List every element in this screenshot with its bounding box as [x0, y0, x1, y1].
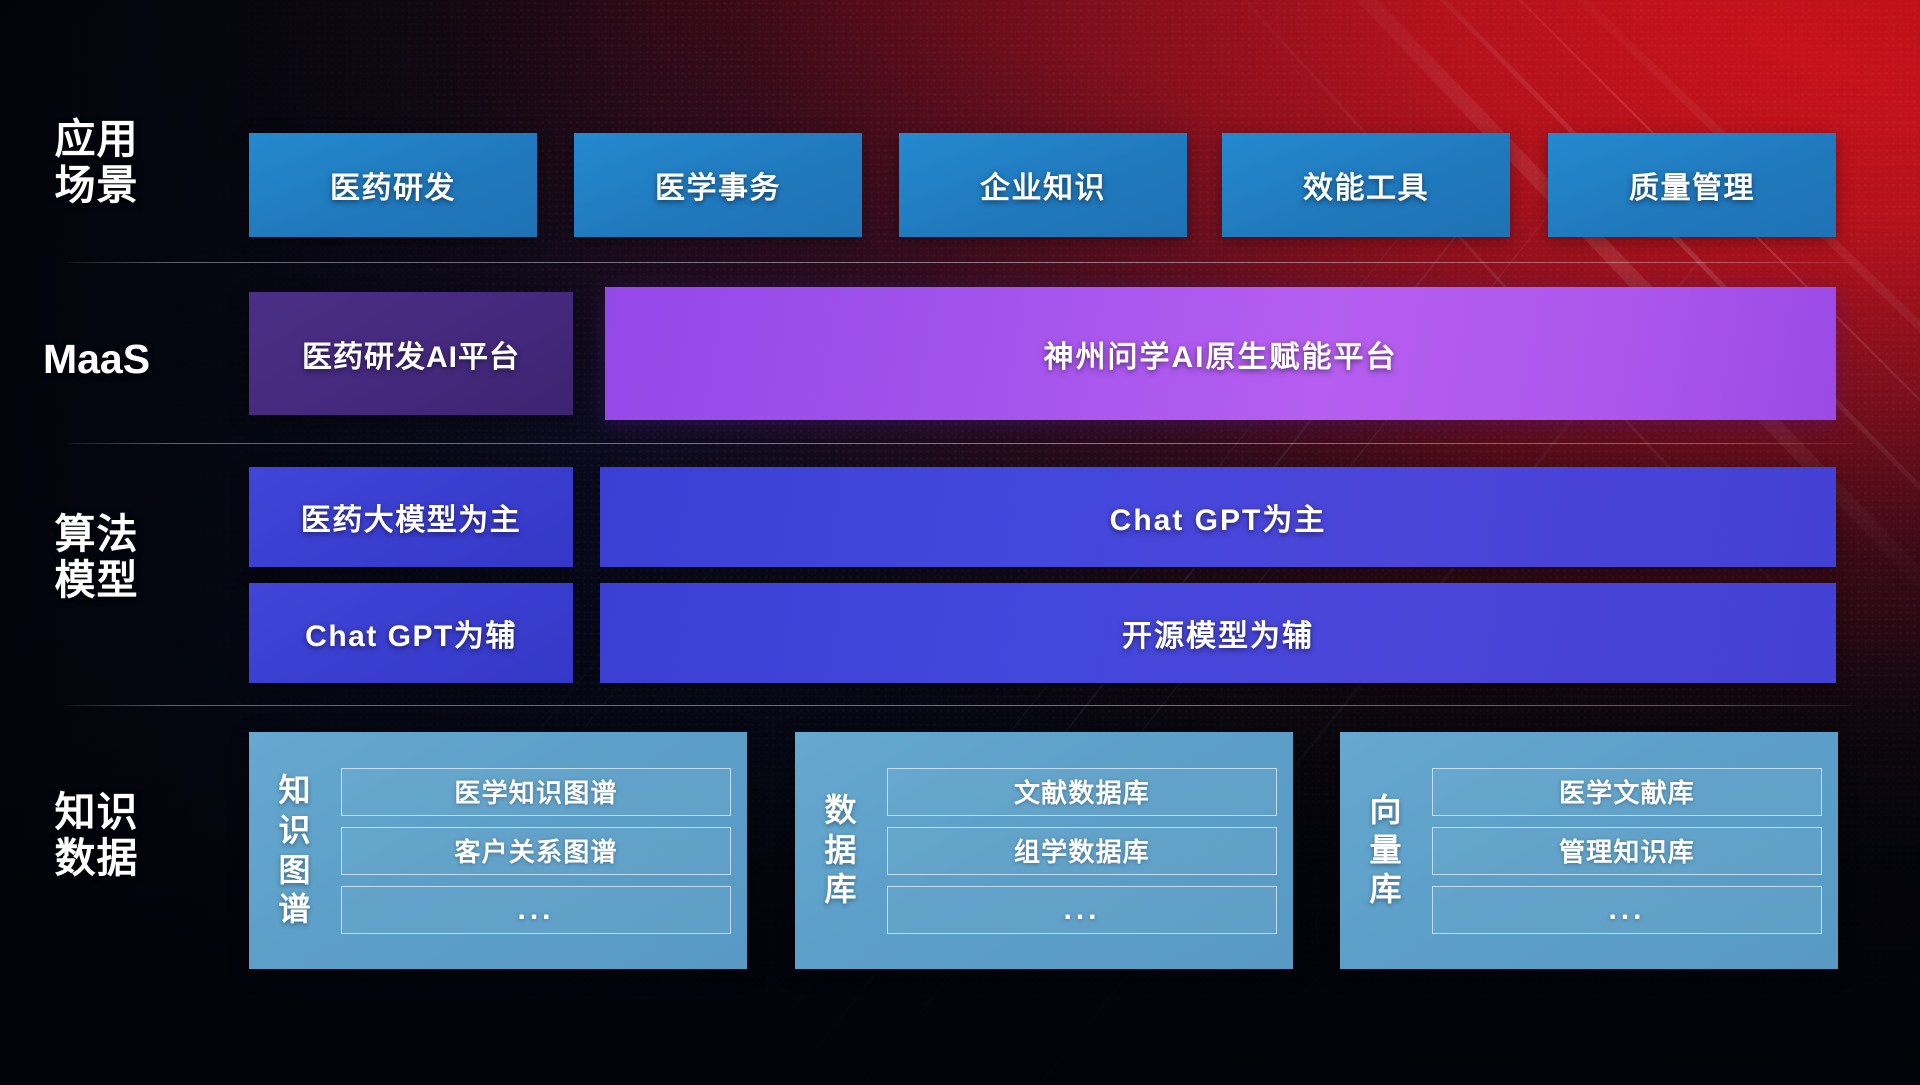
row-label-line: 场景: [0, 163, 193, 209]
knowledge-item-customer-relationship-graph[interactable]: 客户关系图谱: [341, 827, 731, 875]
knowledge-item-more[interactable]: ...: [887, 886, 1277, 934]
row-label-line: 应用: [0, 117, 193, 163]
divider-2: [68, 443, 1852, 444]
knowledge-panel-label-database: 数据库: [795, 791, 887, 910]
divider-1: [68, 262, 1852, 263]
knowledge-panel-knowledge-graph[interactable]: 知识图谱 医学知识图谱 客户关系图谱 ...: [249, 732, 747, 969]
architecture-diagram: 应用 场景 医药研发 医学事务 企业知识 效能工具 质量管理 MaaS 医药研发…: [0, 0, 1920, 1080]
knowledge-panel-label-vector-store: 向量库: [1340, 791, 1432, 910]
app-box-medical-affairs[interactable]: 医学事务: [574, 133, 862, 237]
knowledge-panel-database[interactable]: 数据库 文献数据库 组学数据库 ...: [795, 732, 1293, 969]
row-label-maas: MaaS: [0, 337, 193, 383]
knowledge-item-list: 医学文献库 管理知识库 ...: [1432, 768, 1822, 934]
knowledge-panel-vector-store[interactable]: 向量库 医学文献库 管理知识库 ...: [1340, 732, 1838, 969]
algo-box-pharma-llm-primary[interactable]: 医药大模型为主: [249, 467, 573, 567]
divider-3: [68, 705, 1852, 706]
algo-box-chatgpt-primary[interactable]: Chat GPT为主: [600, 467, 1836, 567]
app-box-pharma-rd[interactable]: 医药研发: [249, 133, 537, 237]
knowledge-item-more[interactable]: ...: [341, 886, 731, 934]
app-box-efficiency-tools[interactable]: 效能工具: [1222, 133, 1510, 237]
algo-box-open-source-secondary[interactable]: 开源模型为辅: [600, 583, 1836, 683]
maas-box-pharma-ai-platform[interactable]: 医药研发AI平台: [249, 292, 573, 415]
app-box-quality-management[interactable]: 质量管理: [1548, 133, 1836, 237]
knowledge-item-list: 医学知识图谱 客户关系图谱 ...: [341, 768, 731, 934]
knowledge-item-medical-knowledge-graph[interactable]: 医学知识图谱: [341, 768, 731, 816]
algo-box-chatgpt-secondary[interactable]: Chat GPT为辅: [249, 583, 573, 683]
row-label-application-scenarios: 应用 场景: [0, 117, 193, 209]
row-label-line: 知识: [0, 790, 193, 836]
knowledge-item-literature-database[interactable]: 文献数据库: [887, 768, 1277, 816]
knowledge-panel-label-knowledge-graph: 知识图谱: [249, 771, 341, 930]
row-label-knowledge-data: 知识 数据: [0, 790, 193, 882]
row-label-line: 算法: [0, 512, 193, 558]
knowledge-item-list: 文献数据库 组学数据库 ...: [887, 768, 1277, 934]
knowledge-item-medical-literature-store[interactable]: 医学文献库: [1432, 768, 1822, 816]
knowledge-item-omics-database[interactable]: 组学数据库: [887, 827, 1277, 875]
app-box-enterprise-knowledge[interactable]: 企业知识: [899, 133, 1187, 237]
row-label-line: 模型: [0, 558, 193, 604]
maas-box-shenzhou-wenxue-platform[interactable]: 神州问学AI原生赋能平台: [605, 287, 1836, 420]
row-label-algorithm-models: 算法 模型: [0, 512, 193, 604]
row-label-line: 数据: [0, 836, 193, 882]
knowledge-item-more[interactable]: ...: [1432, 886, 1822, 934]
knowledge-item-management-knowledge-store[interactable]: 管理知识库: [1432, 827, 1822, 875]
